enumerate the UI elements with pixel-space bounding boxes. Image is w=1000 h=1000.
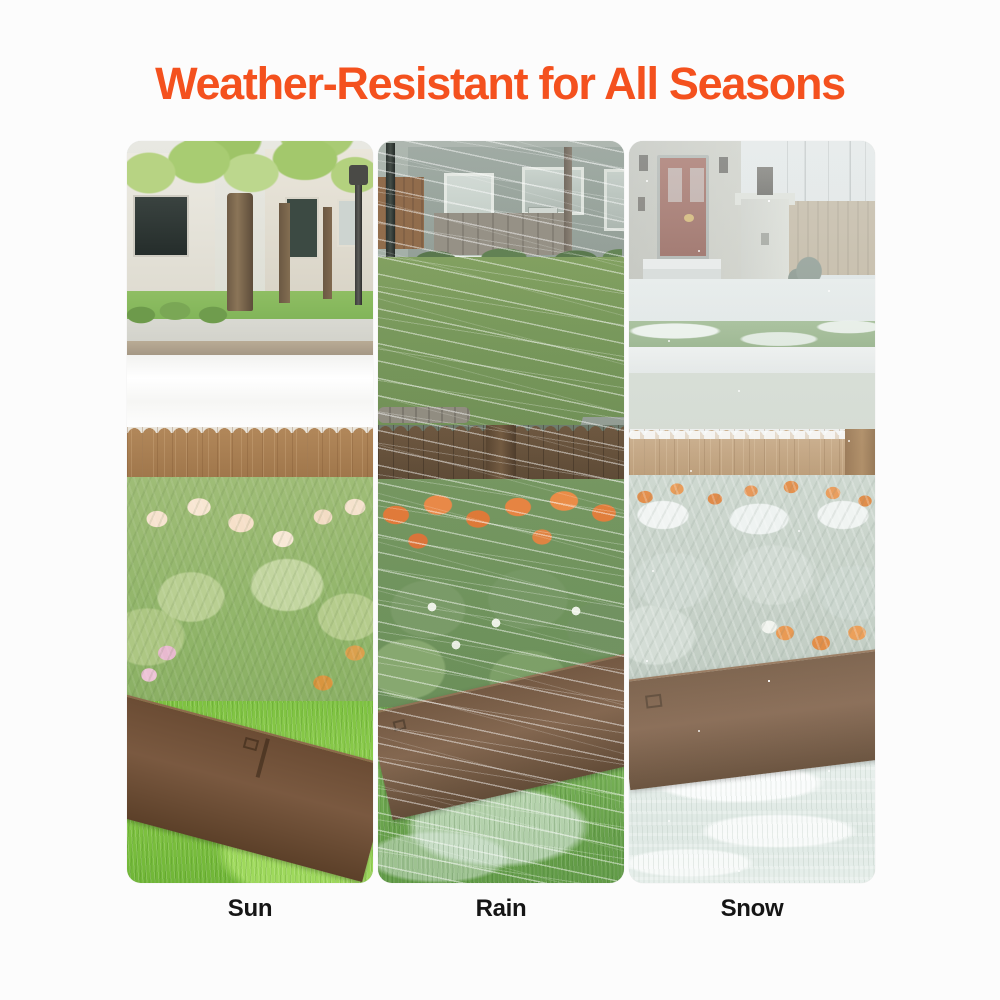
snow-walkway — [629, 347, 875, 373]
rain-rock-border — [378, 407, 470, 423]
rain-edging-clip — [393, 719, 407, 731]
panel-label-rain: Rain — [378, 895, 624, 923]
snow-wall-sconce-left — [639, 155, 648, 171]
product-feature-poster: Weather-Resistant for All Seasons — [0, 0, 1000, 1000]
weather-panel-rain[interactable] — [378, 141, 624, 883]
page-title: Weather-Resistant for All Seasons — [0, 58, 1000, 110]
weather-panel-snow[interactable] — [629, 141, 875, 883]
snow-door-glass-left — [668, 168, 682, 202]
rain-background-fence — [378, 177, 424, 249]
snow-house-number — [638, 197, 645, 211]
sun-tree-canopy — [127, 141, 373, 235]
sun-edging-clip — [243, 737, 259, 751]
weather-panel-sun[interactable] — [127, 141, 373, 883]
snow-door-glass-right — [690, 168, 704, 202]
sun-lamp-head — [349, 165, 368, 185]
rain-window-right — [604, 169, 624, 231]
snow-front-door — [657, 155, 709, 259]
snow-wall-sconce-right — [719, 157, 728, 173]
snow-pillar-plaque — [761, 233, 769, 245]
panel-label-row: Sun Rain Snow — [127, 895, 876, 923]
snow-scene — [629, 141, 875, 883]
panel-label-snow: Snow — [629, 895, 875, 923]
snow-stone-pillar — [741, 199, 789, 291]
snow-door-knob — [684, 214, 694, 222]
snow-fence-snow-caps — [629, 431, 875, 439]
panel-label-sun: Sun — [127, 895, 373, 923]
rain-background-lawn — [378, 257, 624, 433]
rain-scene — [378, 141, 624, 883]
sun-road — [127, 355, 373, 433]
snow-lantern — [757, 167, 773, 195]
snow-house — [629, 141, 741, 291]
sun-scene — [127, 141, 373, 883]
snow-edging-clip — [645, 694, 662, 709]
weather-panel-gallery — [127, 141, 876, 883]
sun-lamp-post — [355, 175, 362, 305]
